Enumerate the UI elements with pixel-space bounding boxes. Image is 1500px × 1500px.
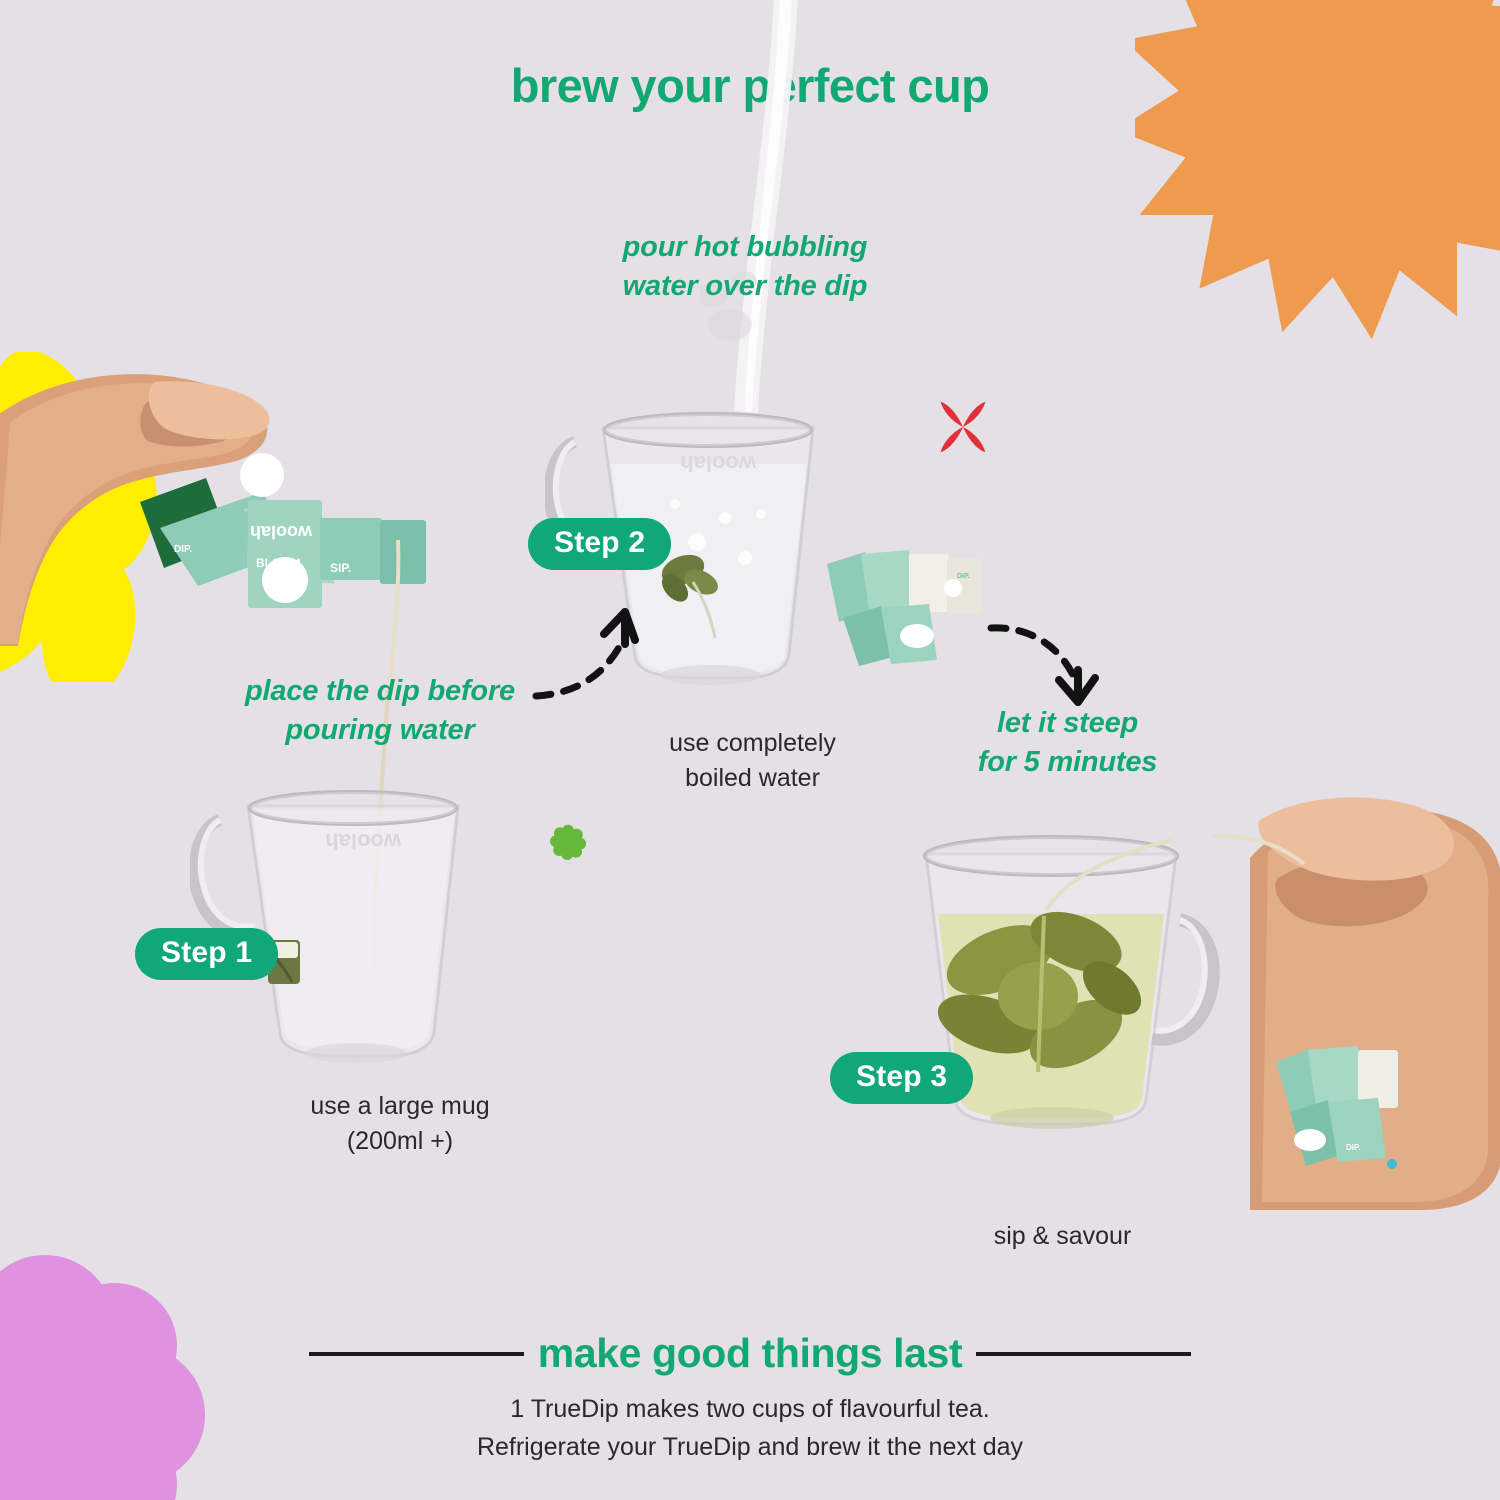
svg-text:BLOOM.: BLOOM. (256, 556, 304, 570)
step-badge-2: Step 2 (528, 518, 671, 570)
caption-step2: use completely boiled water (620, 726, 885, 795)
infographic-page: brew your perfect cup (0, 0, 1500, 1500)
svg-text:woolah: woolah (250, 522, 313, 542)
svg-text:woolah: woolah (325, 829, 402, 854)
hand-holding-packet-photo: woolah DIP. BLOOM. SIP. (0, 360, 430, 690)
svg-text:DIP.: DIP. (957, 573, 970, 580)
caption-step2-line2: boiled water (620, 761, 885, 796)
caption-step3: sip & savour (950, 1219, 1175, 1254)
caption-step1-line2: (200ml +) (260, 1124, 540, 1159)
arrow-step2-to-step3-icon (985, 600, 1110, 710)
footer-section: make good things last 1 TrueDip makes tw… (0, 1330, 1500, 1466)
callout-step2-line2: water over the dip (565, 267, 925, 306)
caption-step1: use a large mug (200ml +) (260, 1089, 540, 1158)
step-badge-1: Step 1 (135, 928, 278, 980)
footer-rule-left (309, 1352, 524, 1356)
caption-step2-line1: use completely (620, 726, 885, 761)
footer-rule-right (976, 1352, 1191, 1356)
footer-title-row: make good things last (0, 1330, 1500, 1377)
callout-step2: pour hot bubbling water over the dip (565, 228, 925, 306)
footer-subtext: 1 TrueDip makes two cups of flavourful t… (0, 1391, 1500, 1466)
hand-holding-dip-photo: DIP. (1190, 790, 1500, 1210)
svg-text:DIP.: DIP. (174, 544, 192, 555)
mug-step1-photo: woolah (190, 770, 510, 1070)
callout-step1: place the dip before pouring water (215, 672, 545, 750)
sparkle-red-decoration (928, 392, 998, 462)
step-badge-3: Step 3 (830, 1052, 973, 1104)
callout-step1-line2: pouring water (215, 711, 545, 750)
caption-step1-line1: use a large mug (260, 1089, 540, 1124)
svg-text:DIP.: DIP. (1346, 1143, 1361, 1152)
callout-step3-line1: let it steep (935, 704, 1200, 743)
footer-subtext-line2: Refrigerate your TrueDip and brew it the… (0, 1429, 1500, 1467)
caption-step3-line1: sip & savour (950, 1219, 1175, 1254)
svg-text:woolah: woolah (680, 451, 757, 476)
opened-packet-photo: DIP. (825, 548, 1000, 673)
water-stream-illustration (700, 0, 830, 415)
sun-burst-decoration (1135, 0, 1500, 350)
svg-text:SIP.: SIP. (330, 561, 351, 575)
footer-subtext-line1: 1 TrueDip makes two cups of flavourful t… (0, 1391, 1500, 1429)
callout-step3: let it steep for 5 minutes (935, 704, 1200, 782)
callout-step3-line2: for 5 minutes (935, 743, 1200, 782)
callout-step2-line1: pour hot bubbling (565, 228, 925, 267)
footer-title: make good things last (538, 1330, 962, 1377)
sparkle-green-decoration (548, 822, 588, 862)
callout-step1-line1: place the dip before (215, 672, 545, 711)
arrow-step1-to-step2-icon (530, 600, 660, 710)
